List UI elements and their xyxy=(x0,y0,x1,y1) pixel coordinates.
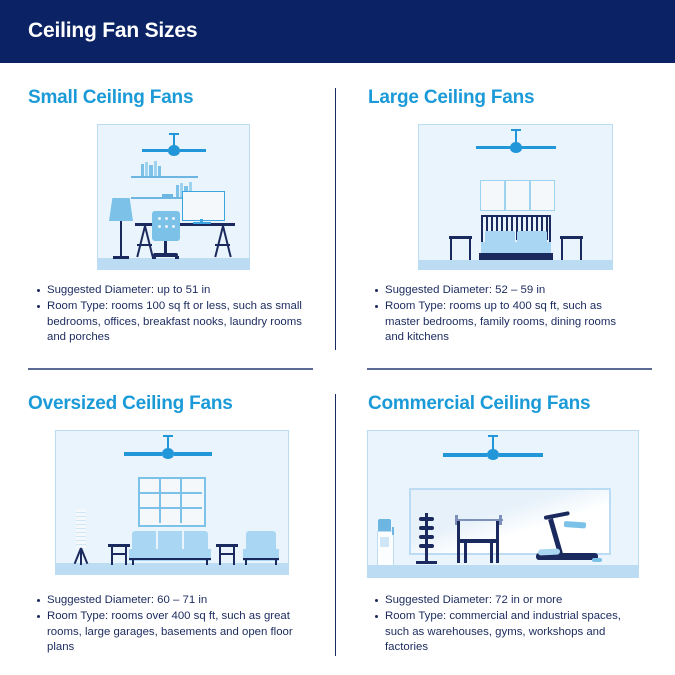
list-item: Room Type: rooms up to 400 sq ft, such a… xyxy=(385,299,633,345)
barbell-weight xyxy=(499,515,502,525)
floor-lamp-shade xyxy=(109,198,133,221)
home-office-illustration xyxy=(97,124,250,270)
nightstand-leg xyxy=(469,239,471,260)
bullets-small: Suggested Diameter: up to 51 in Room Typ… xyxy=(33,283,321,347)
ceiling-fan-icon xyxy=(142,133,206,159)
dumbbell xyxy=(419,526,434,530)
window-mullion xyxy=(180,477,182,523)
shelf-upper xyxy=(131,176,198,178)
armchair-leg xyxy=(275,560,277,565)
water-cooler-tap xyxy=(380,537,389,547)
floor xyxy=(56,563,288,574)
chair-button xyxy=(165,217,168,220)
dumbbell xyxy=(419,535,434,539)
floor xyxy=(419,260,612,269)
side-table-leg xyxy=(233,547,235,565)
desk-leg-brace xyxy=(137,244,152,246)
window-mullion xyxy=(138,492,202,494)
sofa-back xyxy=(132,531,208,551)
water-cooler-spout xyxy=(392,527,394,535)
floor xyxy=(98,258,249,269)
bullets-large: Suggested Diameter: 52 – 59 in Room Type… xyxy=(371,283,633,347)
chair-button xyxy=(165,225,168,228)
desk-top xyxy=(135,223,235,226)
window-mullion xyxy=(159,477,161,523)
list-item: Suggested Diameter: 52 – 59 in xyxy=(385,283,633,298)
book xyxy=(176,185,179,197)
dumbbell xyxy=(419,544,434,548)
infographic-page: Ceiling Fan Sizes Small Ceiling Fans xyxy=(0,0,675,675)
desk-leg-brace xyxy=(215,244,230,246)
bed-base xyxy=(479,253,553,260)
window xyxy=(138,477,206,527)
nightstand-leg xyxy=(561,239,563,260)
chair-button xyxy=(158,217,161,220)
bench-leg xyxy=(490,543,493,563)
section-title-small: Small Ceiling Fans xyxy=(28,87,193,109)
page-title: Ceiling Fan Sizes xyxy=(28,19,197,43)
ceiling-fan-icon xyxy=(443,435,543,463)
list-item: Suggested Diameter: up to 51 in xyxy=(47,283,321,298)
floor-lamp-base xyxy=(113,256,129,259)
floor-lamp-shade xyxy=(76,509,86,548)
armchair-leg xyxy=(245,560,247,565)
chair-button xyxy=(158,225,161,228)
sofa-leg xyxy=(132,560,134,565)
section-title-oversized: Oversized Ceiling Fans xyxy=(28,393,233,415)
sofa-cushion-divider xyxy=(182,531,184,551)
floor xyxy=(368,565,638,577)
bedroom-illustration xyxy=(418,124,613,270)
sofa-front-rail xyxy=(129,558,211,560)
section-title-large: Large Ceiling Fans xyxy=(368,87,534,109)
list-item: Suggested Diameter: 72 in or more xyxy=(385,593,621,608)
list-item: Suggested Diameter: 60 – 71 in xyxy=(47,593,313,608)
section-title-commercial: Commercial Ceiling Fans xyxy=(368,393,590,415)
side-table-brace xyxy=(219,553,235,555)
wall-art xyxy=(505,180,530,211)
floor-lamp-leg xyxy=(80,548,82,565)
page-header: Ceiling Fan Sizes xyxy=(0,0,675,63)
treadmill-foot xyxy=(592,558,602,562)
list-item: Room Type: rooms 100 sq ft or less, such… xyxy=(47,299,321,345)
living-room-illustration xyxy=(55,430,289,575)
sofa-leg xyxy=(206,560,208,565)
desk-leg xyxy=(222,226,232,258)
side-table-brace xyxy=(111,553,127,555)
bench-leg xyxy=(464,543,467,563)
book xyxy=(158,166,161,176)
water-cooler-bottle xyxy=(378,519,391,531)
nightstand-leg xyxy=(450,239,452,260)
dumbbell xyxy=(419,517,434,521)
wall-art xyxy=(530,180,555,211)
side-table-leg xyxy=(219,547,221,565)
dumbbell-rack-base xyxy=(416,561,437,564)
armchair-front-rail xyxy=(243,558,279,560)
book xyxy=(141,164,144,176)
side-table-leg xyxy=(111,547,113,565)
headboard-post xyxy=(549,215,551,242)
monitor-base xyxy=(193,222,211,224)
list-item: Room Type: rooms over 400 sq ft, such as… xyxy=(47,609,313,655)
window-mullion xyxy=(138,507,202,509)
treadmill-belt xyxy=(538,548,560,555)
chair-wheel xyxy=(152,256,156,259)
chair-wheel xyxy=(175,256,179,259)
chair-button xyxy=(172,217,175,220)
headboard-post xyxy=(481,215,483,242)
side-table-leg xyxy=(125,547,127,565)
chair-button xyxy=(172,225,175,228)
bullets-oversized: Suggested Diameter: 60 – 71 in Room Type… xyxy=(33,593,313,657)
book xyxy=(145,162,148,176)
floor-lamp-pole xyxy=(120,221,122,258)
nightstand-leg xyxy=(580,239,582,260)
ceiling-fan-icon xyxy=(476,129,556,156)
book xyxy=(162,194,173,197)
ceiling-fan-icon xyxy=(124,435,212,462)
monitor-screen xyxy=(182,191,225,221)
sofa-cushion-divider xyxy=(156,531,158,551)
bullets-commercial: Suggested Diameter: 72 in or more Room T… xyxy=(371,593,621,657)
wall-art xyxy=(480,180,505,211)
book xyxy=(154,161,157,176)
armchair-back xyxy=(246,531,276,551)
list-item: Room Type: commercial and industrial spa… xyxy=(385,609,621,655)
gym-illustration xyxy=(367,430,639,578)
book xyxy=(149,165,153,176)
